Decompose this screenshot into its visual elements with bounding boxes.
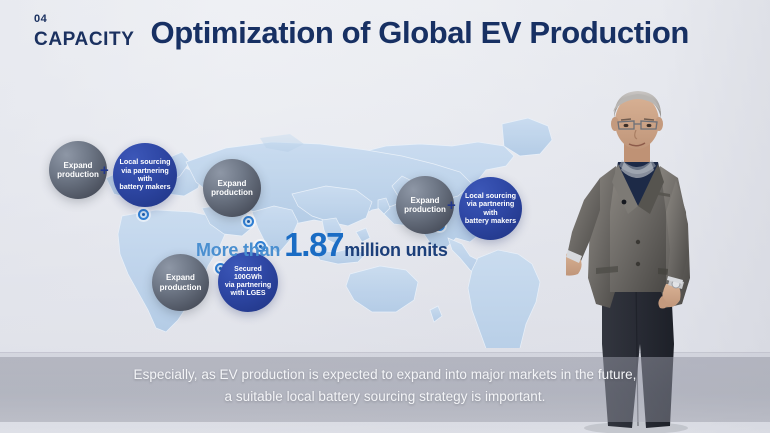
bubble-line-1: Expand bbox=[218, 179, 247, 188]
bubble-line-1: Expand bbox=[64, 161, 93, 170]
presentation-slide: 04 CAPACITY Optimization of Global EV Pr… bbox=[0, 0, 770, 433]
section-label: CAPACITY bbox=[34, 30, 135, 49]
slide-header: 04 CAPACITY Optimization of Global EV Pr… bbox=[34, 14, 689, 49]
plus-connector-europe: + bbox=[100, 163, 109, 178]
stat-lead: More than bbox=[196, 240, 280, 261]
plus-connector-americas: + bbox=[447, 198, 456, 213]
bubble-line-3: battery makers bbox=[465, 216, 516, 225]
page-title: Optimization of Global EV Production bbox=[151, 17, 689, 49]
bubble-line-2: production bbox=[211, 188, 253, 197]
bubble-line-2: via partnering with bbox=[467, 199, 515, 216]
bubble-expand-production-europe[interactable]: Expandproduction bbox=[49, 141, 107, 199]
bubble-line-4: with LGES bbox=[230, 290, 265, 297]
caption-line-1: Especially, as EV production is expected… bbox=[0, 364, 770, 386]
bubble-text: Expandproduction bbox=[399, 196, 451, 215]
bubble-expand-production-asia[interactable]: Expandproduction bbox=[203, 159, 261, 217]
bubble-text: Expandproduction bbox=[155, 273, 207, 292]
bubble-line-3: battery makers bbox=[119, 182, 170, 191]
bubble-line-1: Expand bbox=[166, 273, 195, 282]
bubble-text: Local sourcingvia partnering withbattery… bbox=[113, 158, 177, 191]
bubble-line-2: production bbox=[57, 170, 99, 179]
bubble-line-2: 100GWh bbox=[234, 274, 262, 281]
bubble-line-2: production bbox=[404, 205, 446, 214]
map-pin-europe bbox=[138, 209, 149, 220]
bubble-line-2: production bbox=[160, 283, 202, 292]
bubble-line-1: Secured bbox=[234, 266, 262, 273]
bubble-text: Expandproduction bbox=[206, 179, 258, 198]
bubble-text: Secured100GWhvia partneringwith LGES bbox=[220, 266, 276, 298]
caption-text: Especially, as EV production is expected… bbox=[0, 364, 770, 408]
bubble-line-2: via partnering with bbox=[121, 166, 169, 183]
bubble-local-sourcing-europe[interactable]: Local sourcingvia partnering withbattery… bbox=[113, 143, 177, 207]
headline-statistic: More than 1.87 million units bbox=[196, 226, 448, 264]
bubble-text: Local sourcingvia partnering withbattery… bbox=[459, 192, 522, 225]
section-kicker: 04 CAPACITY bbox=[34, 14, 135, 49]
bubble-local-sourcing-americas[interactable]: Local sourcingvia partnering withbattery… bbox=[459, 177, 522, 240]
stat-unit: million units bbox=[344, 240, 447, 261]
section-number: 04 bbox=[34, 14, 135, 25]
bubble-line-3: via partnering bbox=[225, 282, 271, 289]
bubble-text: Expandproduction bbox=[52, 161, 104, 180]
bubble-line-1: Expand bbox=[411, 196, 440, 205]
caption-line-2: a suitable local battery sourcing strate… bbox=[0, 386, 770, 408]
stat-value: 1.87 bbox=[284, 226, 343, 264]
